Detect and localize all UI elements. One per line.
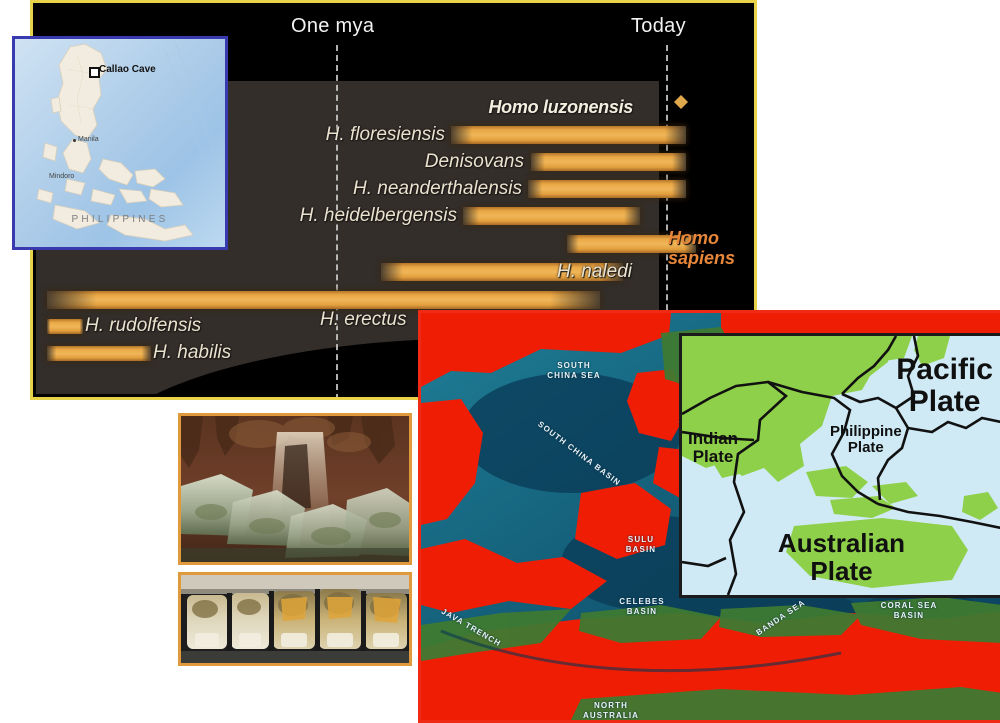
sat-label-sulu-basin: SULU BASIN <box>611 535 671 555</box>
country-label-philippines: PHILIPPINES <box>72 214 169 225</box>
plate-label-pacific: Pacific Plate <box>896 354 993 417</box>
callao-cave-label: Callao Cave <box>99 64 156 75</box>
range-bar-h-erectus <box>47 291 600 309</box>
taxon-label-homo-luzonensis: Homo luzonensis <box>488 97 633 118</box>
range-bar-h-heidelbergensis <box>463 207 640 225</box>
cave-photo-graphic <box>181 416 411 564</box>
tectonic-plates-inset-map: Pacific Plate Philippine Plate Indian Pl… <box>679 333 1000 598</box>
hominin-teeth-photo <box>178 572 412 666</box>
teeth-photo-graphic <box>181 575 411 665</box>
taxon-label-homo-sapiens: Homo sapiens <box>668 228 752 268</box>
plate-label-australian: Australian Plate <box>762 530 922 585</box>
taxon-label-denisovans: Denisovans <box>425 151 524 173</box>
city-label-mindoro: Mindoro <box>49 173 74 180</box>
range-bar-h-habilis <box>47 346 151 361</box>
taxon-label-h-floresiensis: H. floresiensis <box>326 124 445 146</box>
taxon-label-h-heidelbergensis: H. heidelbergensis <box>300 205 457 227</box>
plate-label-indian: Indian Plate <box>688 430 738 466</box>
sat-label-north-australia-basin: NORTH AUSTRALIA BASIN <box>571 701 651 723</box>
sat-label-south-china-sea: SOUTH CHINA SEA <box>531 361 617 381</box>
range-bar-h-rudolfensis <box>47 319 83 334</box>
range-bar-h-neanderthalensis <box>528 180 686 198</box>
taxon-label-h-erectus: H. erectus <box>320 309 407 331</box>
taxon-label-h-rudolfensis: H. rudolfensis <box>85 315 201 337</box>
range-bar-h-floresiensis <box>451 126 686 144</box>
sat-label-celebes-basin: CELEBES BASIN <box>609 597 675 617</box>
taxon-label-h-habilis: H. habilis <box>153 342 231 364</box>
axis-tick-today: Today <box>631 15 686 38</box>
sat-label-coral-sea-basin: CORAL SEA BASIN <box>869 601 949 621</box>
taxon-label-h-neanderthalensis: H. neanderthalensis <box>353 178 522 200</box>
plate-label-philippine: Philippine Plate <box>830 424 902 456</box>
city-label-manila: Manila <box>78 136 99 143</box>
callao-cave-photo <box>178 413 412 565</box>
philippines-locator-map: Callao Cave Manila Mindoro PHILIPPINES <box>12 36 228 250</box>
axis-tick-one-mya: One mya <box>291 15 374 38</box>
city-marker-manila <box>73 139 76 142</box>
range-bar-denisovans <box>531 153 686 171</box>
taxon-label-h-naledi: H. naledi <box>557 261 632 283</box>
